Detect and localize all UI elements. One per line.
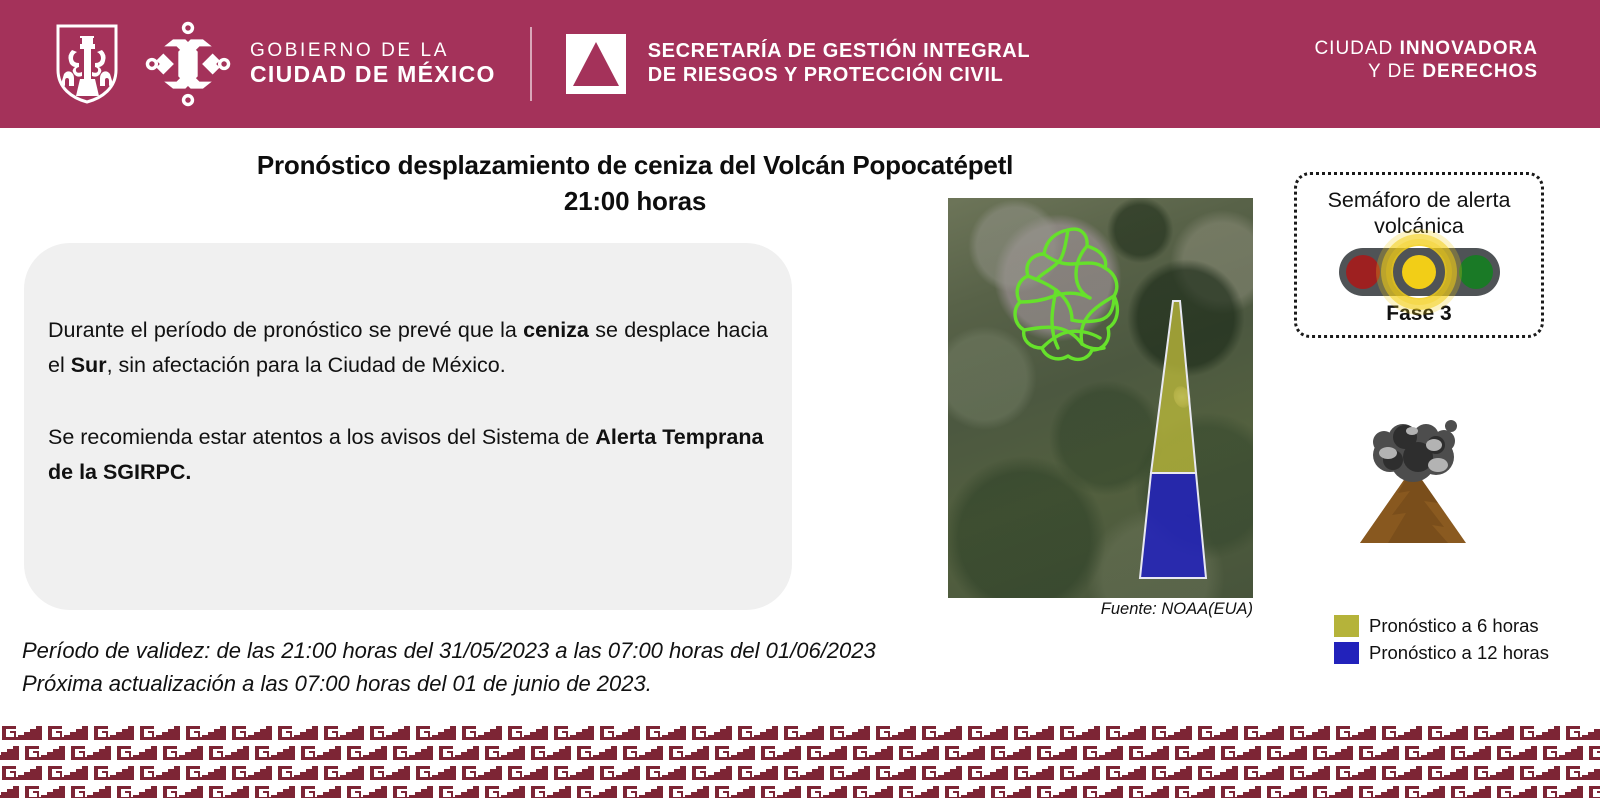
tagline-line-1: CIUDAD INNOVADORA [1314,38,1538,61]
p1-text-1: Durante el período de pronóstico se prev… [48,318,523,342]
header-tagline: CIUDAD INNOVADORA Y DE DERECHOS [1314,38,1538,84]
validity-notes: Período de validez: de las 21:00 horas d… [22,634,1022,701]
legend-swatch-12h [1334,642,1359,664]
legend-label-6h: Pronóstico a 6 horas [1369,615,1539,637]
title-line-1: Pronóstico desplazamiento de ceniza del … [0,148,1270,184]
map-legend: Pronóstico a 6 horas Pronóstico a 12 hor… [1334,615,1549,664]
traffic-light-icon [1339,248,1500,296]
legend-swatch-6h [1334,615,1359,637]
p2-text-1: Se recomienda estar atentos a los avisos… [48,425,595,449]
p1-bold-sur: Sur [71,353,107,377]
gobierno-line-2: CIUDAD DE MÉXICO [250,62,496,88]
p1-bold-ceniza: ceniza [523,318,589,342]
gobierno-wordmark: GOBIERNO DE LA CIUDAD DE MÉXICO [250,40,496,87]
header-divider [530,27,532,101]
infographic-page: GOBIERNO DE LA CIUDAD DE MÉXICO SECRETAR… [0,0,1600,798]
semaforo-title-line-1: Semáforo de alerta [1328,187,1511,213]
tagline-ciudad: CIUDAD [1314,38,1399,59]
recommendation-paragraph: Se recomienda estar atentos a los avisos… [48,420,788,490]
aztec-stepped-fret-border [0,718,1600,798]
cdmx-shield-crest-icon [56,24,118,104]
volcanic-alert-panel: Semáforo de alerta volcánica Fase 3 [1294,172,1544,338]
sgirpc-line-1: SECRETARÍA DE GESTIÓN INTEGRAL [648,40,1030,64]
red-lamp-icon [1346,255,1380,289]
map-container: Fuente: NOAA(EUA) [948,198,1253,598]
forecast-6h-polygon [1151,301,1196,473]
alert-phase-label: Fase 3 [1386,302,1451,326]
sgirpc-line-2: DE RIESGOS Y PROTECCIÓN CIVIL [648,64,1030,88]
message-card: Durante el período de pronóstico se prev… [24,243,792,610]
next-update: Próxima actualización a las 07:00 horas … [22,667,1022,700]
greca-pattern [0,718,1600,798]
sgirpc-wordmark: SECRETARÍA DE GESTIÓN INTEGRAL DE RIESGO… [648,40,1030,87]
satellite-map-image [948,198,1253,598]
amber-lamp-icon [1402,255,1436,289]
forecast-paragraph: Durante el período de pronóstico se prev… [48,313,768,383]
legend-item-12h: Pronóstico a 12 horas [1334,642,1549,664]
validity-period: Período de validez: de las 21:00 horas d… [22,634,1022,667]
semaforo-title: Semáforo de alerta volcánica [1328,187,1511,239]
tagline-yde: Y DE [1368,61,1422,82]
tagline-line-2: Y DE DERECHOS [1314,61,1538,84]
header-bar: GOBIERNO DE LA CIUDAD DE MÉXICO SECRETAR… [0,0,1600,128]
ash-dispersion-plume [948,198,1253,598]
forecast-12h-polygon [1140,473,1206,578]
map-source-credit: Fuente: NOAA(EUA) [1101,600,1253,619]
semaforo-title-line-2: volcánica [1328,213,1511,239]
triangle-in-square-icon [566,34,626,94]
tagline-innovadora: INNOVADORA [1400,38,1538,59]
legend-item-6h: Pronóstico a 6 horas [1334,615,1549,637]
legend-label-12h: Pronóstico a 12 horas [1369,642,1549,664]
erupting-volcano-icon [1348,415,1478,555]
triangle-glyph [566,34,626,94]
cdmx-interlocking-x-icon [144,20,232,108]
header-left-logos: GOBIERNO DE LA CIUDAD DE MÉXICO SECRETAR… [0,20,1030,108]
green-lamp-icon [1459,255,1493,289]
tagline-derechos: DERECHOS [1422,61,1538,82]
gobierno-line-1: GOBIERNO DE LA [250,40,496,61]
p1-text-3: , sin afectación para la Ciudad de Méxic… [107,353,506,377]
